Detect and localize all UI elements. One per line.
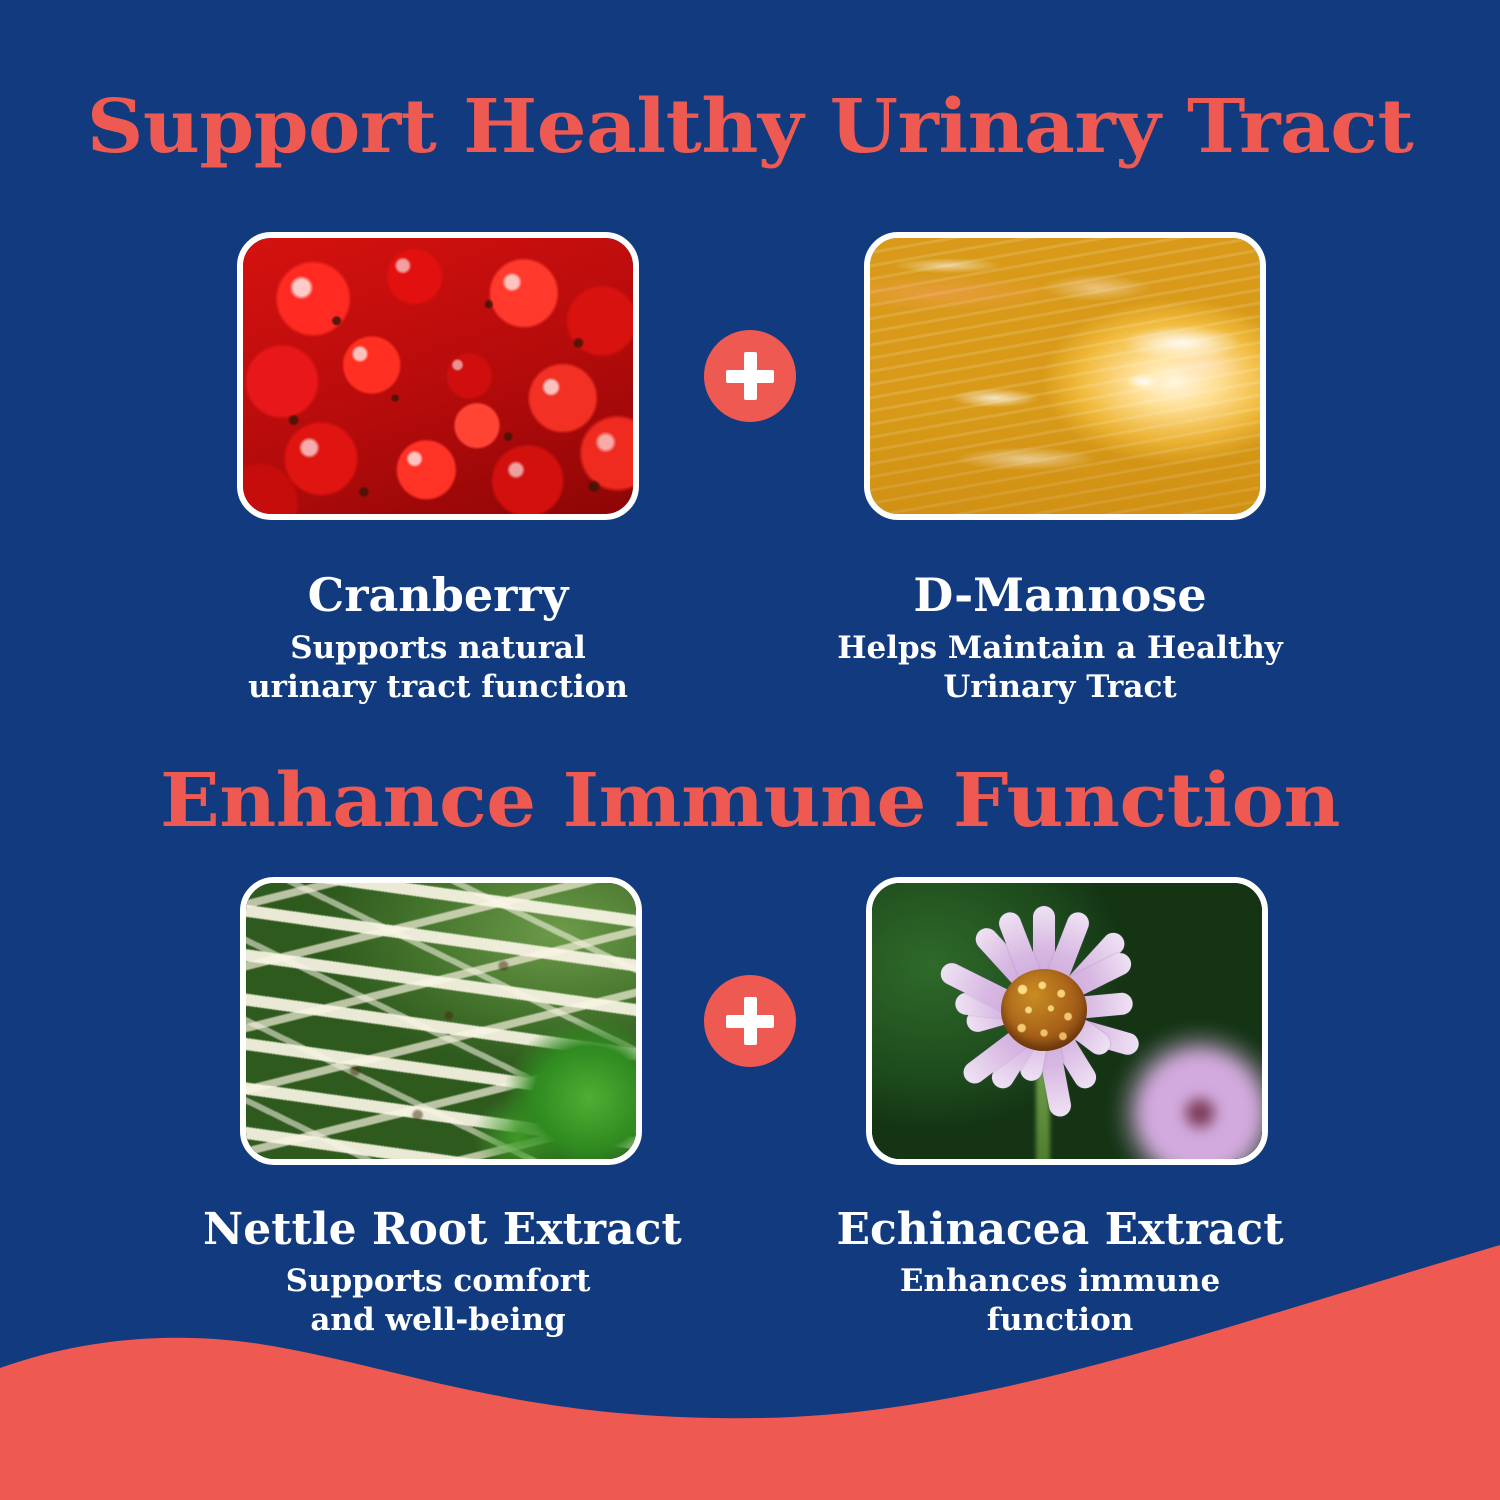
golden-gel-photo [870, 238, 1260, 514]
ingredient-description-line-2: Urinary Tract [943, 669, 1176, 705]
caption-dmannose: D-Mannose Helps Maintain a Healthy Urina… [825, 571, 1295, 708]
ingredient-card-nettle [240, 877, 642, 1165]
ingredient-description-line-2: and well-being [310, 1302, 565, 1338]
ingredient-card-dmannose [864, 232, 1266, 520]
caption-echinacea: Echinacea Extract Enhances immune functi… [825, 1206, 1295, 1341]
section-heading-immune: Enhance Immune Function [0, 758, 1500, 844]
nettle-root-photo-card [240, 877, 642, 1165]
ingredient-description-dmannose: Helps Maintain a Healthy Urinary Tract [825, 629, 1295, 708]
echinacea-image [872, 883, 1262, 1159]
ingredient-name-nettle: Nettle Root Extract [203, 1206, 673, 1254]
cranberries-photo [243, 238, 633, 514]
caption-nettle: Nettle Root Extract Supports comfort and… [203, 1206, 673, 1341]
nettle-root-photo [246, 883, 636, 1159]
ingredient-name-cranberry: Cranberry [203, 571, 673, 621]
ingredient-description-line-2: function [987, 1302, 1134, 1338]
ingredient-name-echinacea: Echinacea Extract [825, 1206, 1295, 1254]
echinacea-photo-card [866, 877, 1268, 1165]
ingredient-card-echinacea [866, 877, 1268, 1165]
nettle-root-image [246, 883, 636, 1159]
cranberries-image [243, 238, 633, 514]
caption-cranberry: Cranberry Supports natural urinary tract… [203, 571, 673, 708]
plus-icon [704, 975, 796, 1067]
plus-icon-vertical-bar [744, 997, 757, 1045]
cranberries-photo-card [237, 232, 639, 520]
ingredient-name-dmannose: D-Mannose [825, 571, 1295, 621]
plus-icon [704, 330, 796, 422]
ingredient-description-line-1: Supports comfort [286, 1263, 591, 1299]
ingredient-description-cranberry: Supports natural urinary tract function [203, 629, 673, 708]
echinacea-photo [872, 883, 1262, 1159]
golden-gel-photo-card [864, 232, 1266, 520]
ingredient-description-line-2: urinary tract function [248, 669, 628, 705]
ingredient-description-echinacea: Enhances immune function [825, 1262, 1295, 1341]
golden-gel-image [870, 238, 1260, 514]
plus-icon-vertical-bar [744, 352, 757, 400]
ingredient-description-line-1: Supports natural [290, 630, 586, 666]
ingredient-infographic: Support Healthy Urinary Tract Cranberry [0, 0, 1500, 1500]
section-heading-urinary: Support Healthy Urinary Tract [0, 84, 1500, 170]
ingredient-card-cranberry [237, 232, 639, 520]
ingredient-description-line-1: Helps Maintain a Healthy [837, 630, 1283, 666]
ingredient-description-nettle: Supports comfort and well-being [203, 1262, 673, 1341]
ingredient-description-line-1: Enhances immune [900, 1263, 1220, 1299]
flower-cone-center [1001, 969, 1087, 1051]
